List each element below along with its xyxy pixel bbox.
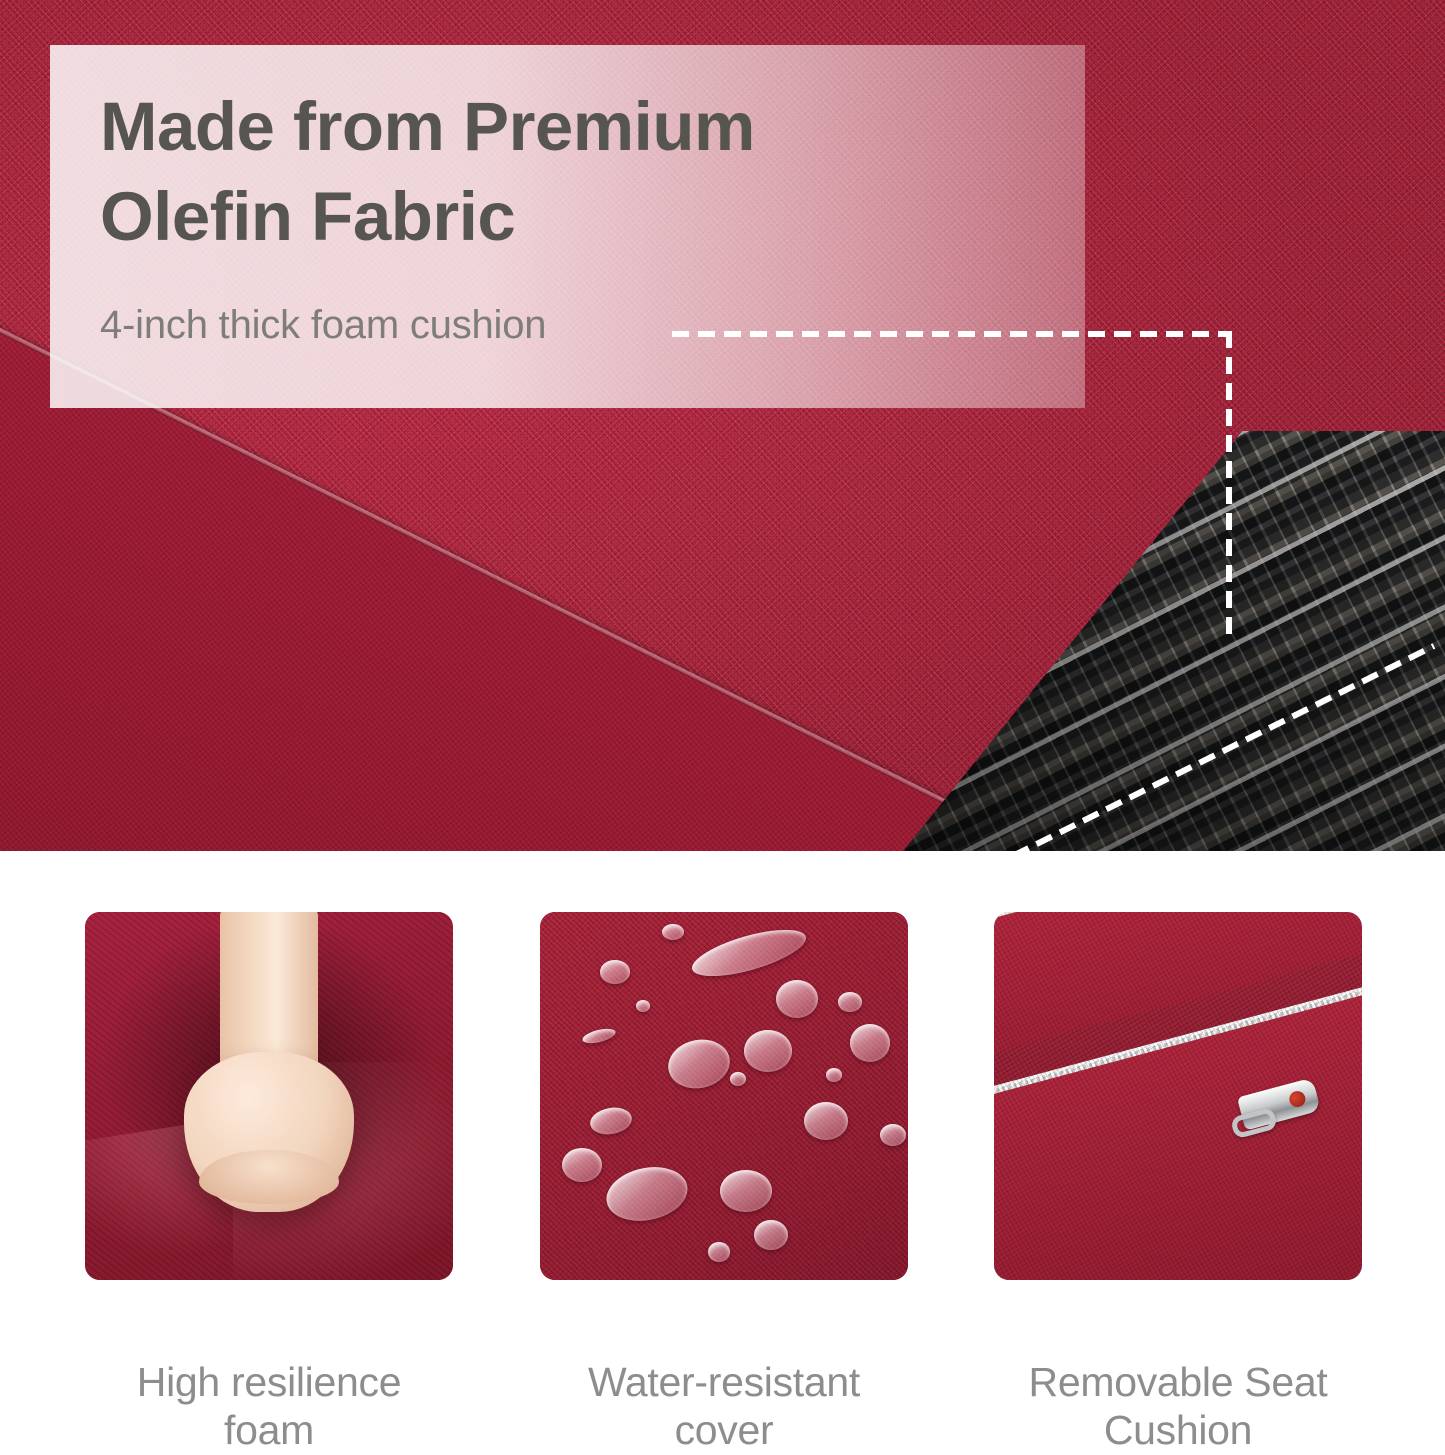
feature-image-water-droplets (540, 912, 908, 1280)
hero-title-line1: Made from Premium (100, 88, 755, 165)
water-droplet (662, 924, 684, 940)
caption-line1: High resilience (85, 1358, 453, 1406)
feature-caption-high-resilience-foam: High resilience foam (85, 1358, 453, 1455)
feature-caption-water-resistant-cover: Water-resistant cover (540, 1358, 908, 1455)
feature-caption-removable-seat-cushion: Removable Seat Cushion (994, 1358, 1362, 1455)
water-droplet (776, 980, 818, 1018)
hero-subtitle: 4-inch thick foam cushion (100, 303, 546, 348)
feature-image-zipper (994, 912, 1362, 1280)
water-droplet (838, 992, 862, 1012)
caption-line2: cover (540, 1406, 908, 1454)
measurement-guide-vertical (1226, 331, 1232, 638)
feature-strip: High resilience foam (0, 851, 1445, 1387)
water-droplet (754, 1220, 788, 1250)
thumb1-knuckles (199, 1150, 339, 1204)
water-droplet (636, 1000, 650, 1012)
feature-image-fist-pressing-cushion (85, 912, 453, 1280)
feature-card-water-resistant-cover: Water-resistant cover (540, 912, 908, 1280)
hero-title-line2: Olefin Fabric (100, 172, 1000, 262)
water-droplet (826, 1068, 842, 1082)
caption-line1: Water-resistant (540, 1358, 908, 1406)
water-droplet (730, 1072, 746, 1086)
feature-card-removable-seat-cushion: Removable Seat Cushion (994, 912, 1362, 1280)
hero-product-image: Made from Premium Olefin Fabric 4-inch t… (0, 0, 1445, 851)
water-droplet (850, 1024, 890, 1062)
caption-line2: Cushion (994, 1406, 1362, 1454)
water-droplet (804, 1102, 848, 1140)
feature-card-high-resilience-foam: High resilience foam (85, 912, 453, 1280)
water-droplet (600, 960, 630, 984)
water-droplet (708, 1242, 730, 1262)
water-droplet (720, 1170, 772, 1212)
water-droplet (744, 1030, 792, 1072)
water-droplet (880, 1124, 906, 1146)
water-droplet (562, 1148, 602, 1182)
page-title: Made from Premium Olefin Fabric (100, 82, 1000, 261)
caption-line1: Removable Seat (994, 1358, 1362, 1406)
caption-line2: foam (85, 1406, 453, 1454)
